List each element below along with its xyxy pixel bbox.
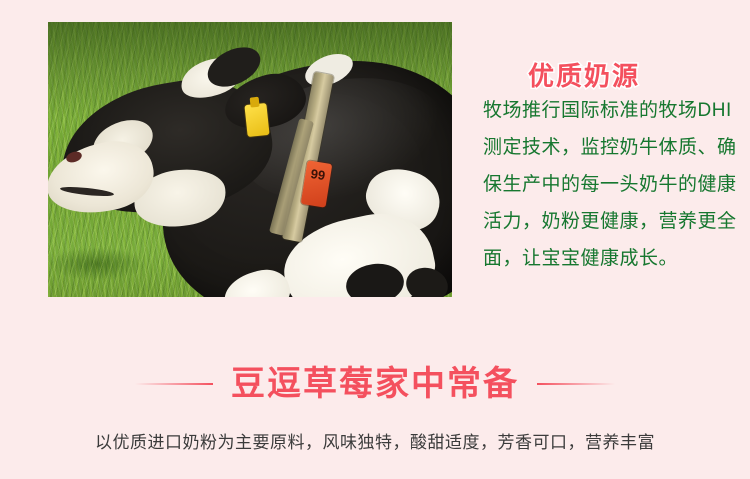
cow-pasture-photo: 99: [48, 22, 452, 297]
divider-line-left: [135, 383, 213, 385]
milk-source-body: 牧场推行国际标准的牧场DHI测定技术，监控奶牛体质、确保生产中的每一头奶牛的健康…: [483, 92, 737, 277]
bottom-headline: 豆逗草莓家中常备: [231, 364, 519, 404]
bottom-subtext: 以优质进口奶粉为主要原料，风味独特，酸甜适度，芳香可口，营养丰富: [0, 428, 750, 453]
divider-line-right: [537, 383, 615, 385]
milk-source-title: 优质奶源: [528, 56, 640, 93]
product-detail-page: 99 优质奶源 牧场推行国际标准的牧场DHI测定技术，监控奶牛体质、确保生产中的…: [0, 0, 750, 479]
bottom-headline-row: 豆逗草莓家中常备: [0, 364, 750, 404]
ear-tag-icon: [244, 103, 269, 137]
